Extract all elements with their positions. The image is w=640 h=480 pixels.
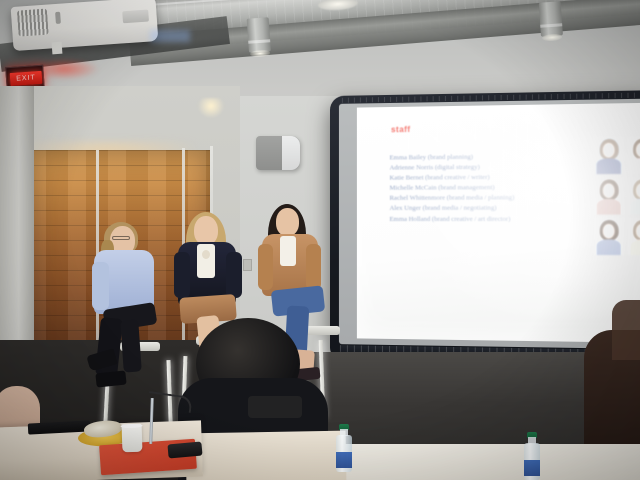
conference-room-photo: EXIT staff Emma Bailey (brand planning) … (0, 0, 640, 480)
panelist-center-necklace (202, 250, 210, 259)
panelist-center-arm-left (174, 252, 190, 298)
headshot-5-thumbnail (594, 218, 624, 255)
panelist-left-glasses (112, 236, 130, 240)
projection-screen-surface: staff Emma Bailey (brand planning) Adrie… (357, 103, 640, 343)
headshot-4-thumbnail (627, 177, 640, 215)
projector-light-beam (150, 30, 190, 42)
table-right (330, 444, 640, 480)
exit-sign-label: EXIT (10, 71, 43, 86)
panelist-right-arm-right (306, 244, 321, 290)
panelist-left-arm (92, 262, 109, 310)
panelist-center-arm-right (226, 252, 242, 298)
projector-mount (52, 42, 63, 55)
projector-knob (55, 12, 61, 24)
wall-lamp (198, 98, 224, 118)
headshot-3-thumbnail (594, 177, 624, 214)
panelist-left-shin-2 (120, 319, 142, 372)
table-middle (186, 431, 347, 480)
chair-back (248, 396, 302, 418)
white-cup[interactable] (122, 424, 143, 453)
panelist-right-head (276, 208, 299, 236)
black-phone[interactable] (167, 442, 202, 459)
slide-heading-staff: staff (391, 125, 411, 134)
presentation-slide: staff Emma Bailey (brand planning) Adrie… (357, 103, 640, 343)
headshot-6-thumbnail (627, 218, 640, 256)
screen-bezel: staff Emma Bailey (brand planning) Adrie… (339, 99, 640, 350)
water-bottle-right[interactable] (524, 432, 540, 480)
headshot-1-thumbnail (594, 137, 624, 175)
pendant-light-1 (247, 17, 272, 58)
projector-lens (122, 10, 149, 24)
slide-headshot-grid (566, 136, 640, 255)
wall-speaker (256, 136, 300, 170)
pendant-light-2 (539, 1, 564, 42)
projection-screen-frame: staff Emma Bailey (brand planning) Adrie… (330, 90, 640, 364)
audience-right-head (612, 300, 640, 360)
panelist-center-head (194, 216, 218, 245)
projector-vent (17, 9, 49, 37)
headshot-2-thumbnail (627, 136, 640, 174)
water-bottle-left[interactable] (336, 424, 352, 472)
panelist-right-top (280, 236, 296, 266)
panelist-right-arm-left (258, 244, 273, 290)
wall-outlet (243, 259, 252, 271)
